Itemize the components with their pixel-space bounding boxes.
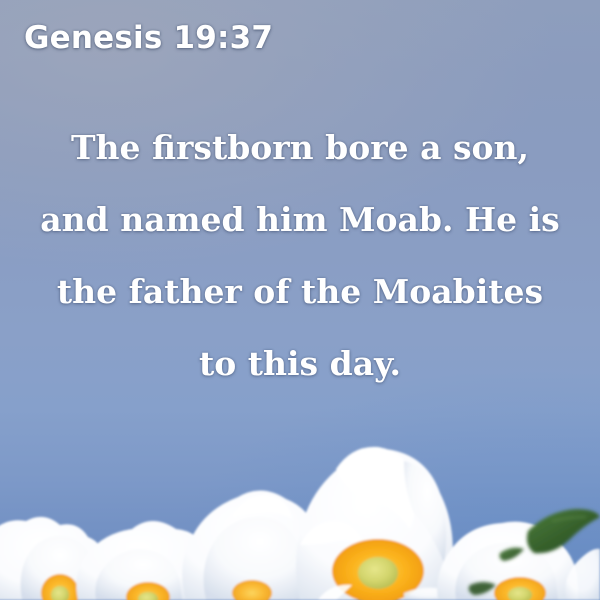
scripture-verse-card: Genesis 19:37 The firstborn bore a son, … [0,0,600,600]
verse-line: the father of the Moabites [0,256,600,328]
flower-center [296,447,453,600]
verse-line: The firstborn bore a son, [0,112,600,184]
verse-reference-title: Genesis 19:37 [24,20,273,56]
flower-photograph-foreground [0,425,600,600]
verse-text-block: The firstborn bore a son, and named him … [0,112,600,400]
verse-line: and named him Moab. He is [0,184,600,256]
flower-cluster [0,447,600,600]
verse-line: to this day. [0,328,600,400]
